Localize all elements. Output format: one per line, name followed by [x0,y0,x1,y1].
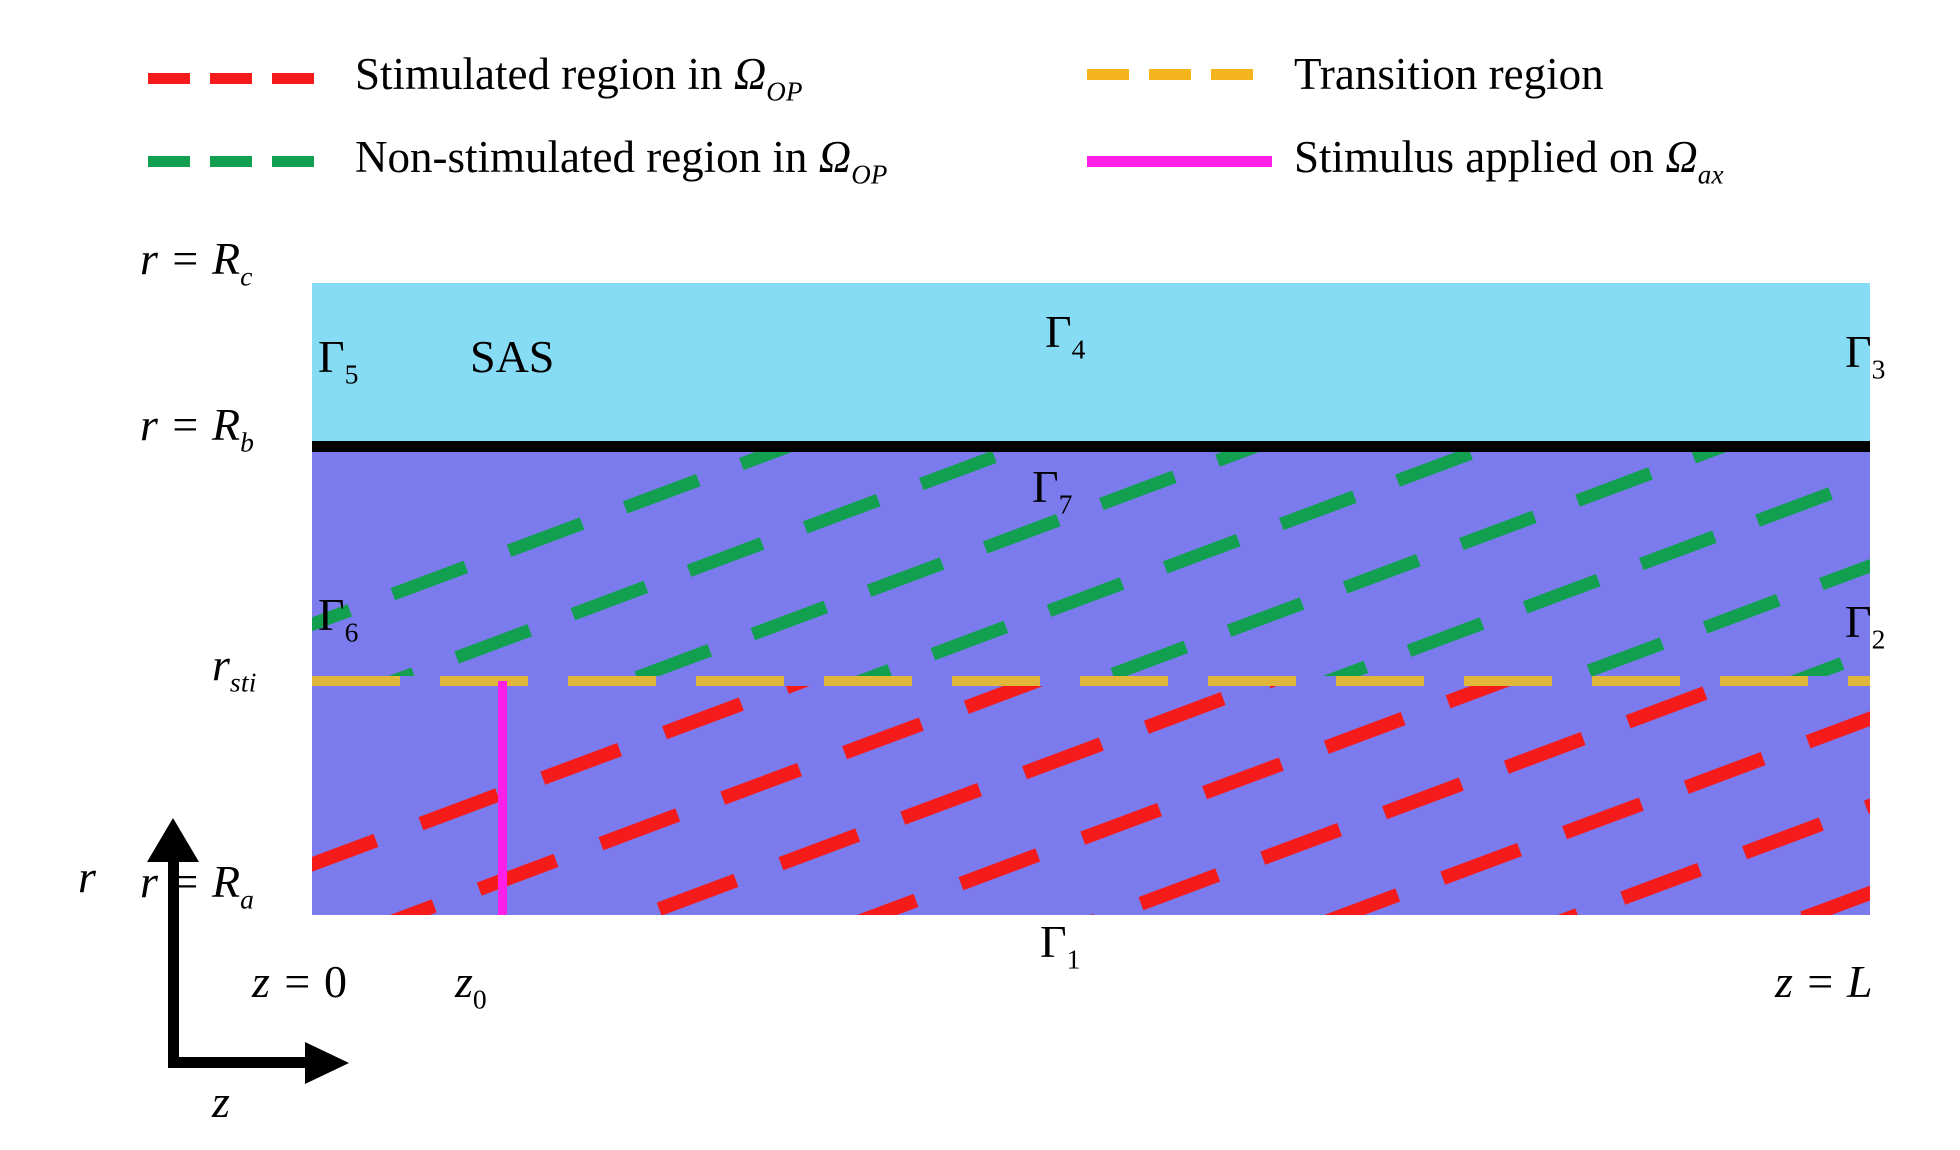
label-r-sti: rsti [212,638,257,699]
axis-vertical-arrowhead [147,818,199,862]
boundary-label-gamma-1: Γ1 [1040,915,1080,976]
boundary-label-gamma-3: Γ3 [1845,325,1885,386]
stimulus-line [498,681,507,915]
hatch-red-group [312,491,1870,915]
transition-line [312,676,1870,686]
axis-label-r: r [78,850,96,903]
axis-label-z: z [212,1075,230,1128]
label-r-equals-Rb: r = Rb [140,398,254,459]
boundary-label-gamma-4: Γ4 [1045,305,1085,366]
label-z-sub-0: z0 [455,955,487,1016]
label-r-equals-Ra: r = Ra [140,855,254,916]
boundary-label-gamma-6: Γ6 [318,588,358,649]
boundary-label-gamma-7: Γ7 [1032,460,1072,521]
label-z-equals-L: z = L [1775,955,1873,1008]
boundary-line-rb [312,441,1870,452]
axis-vertical-line [168,843,179,1068]
boundary-label-gamma-2: Γ2 [1845,595,1885,656]
axis-horizontal-arrowhead [305,1042,349,1084]
axis-horizontal-line [168,1057,313,1068]
label-sas-region: SAS [470,330,554,383]
schematic-figure: r = Rc r = Rb rsti r = Ra z = 0 z0 z = L… [0,0,1960,1150]
boundary-label-gamma-5: Γ5 [318,330,358,391]
label-r-equals-Rc: r = Rc [140,232,253,293]
label-z-equals-0: z = 0 [252,955,347,1008]
